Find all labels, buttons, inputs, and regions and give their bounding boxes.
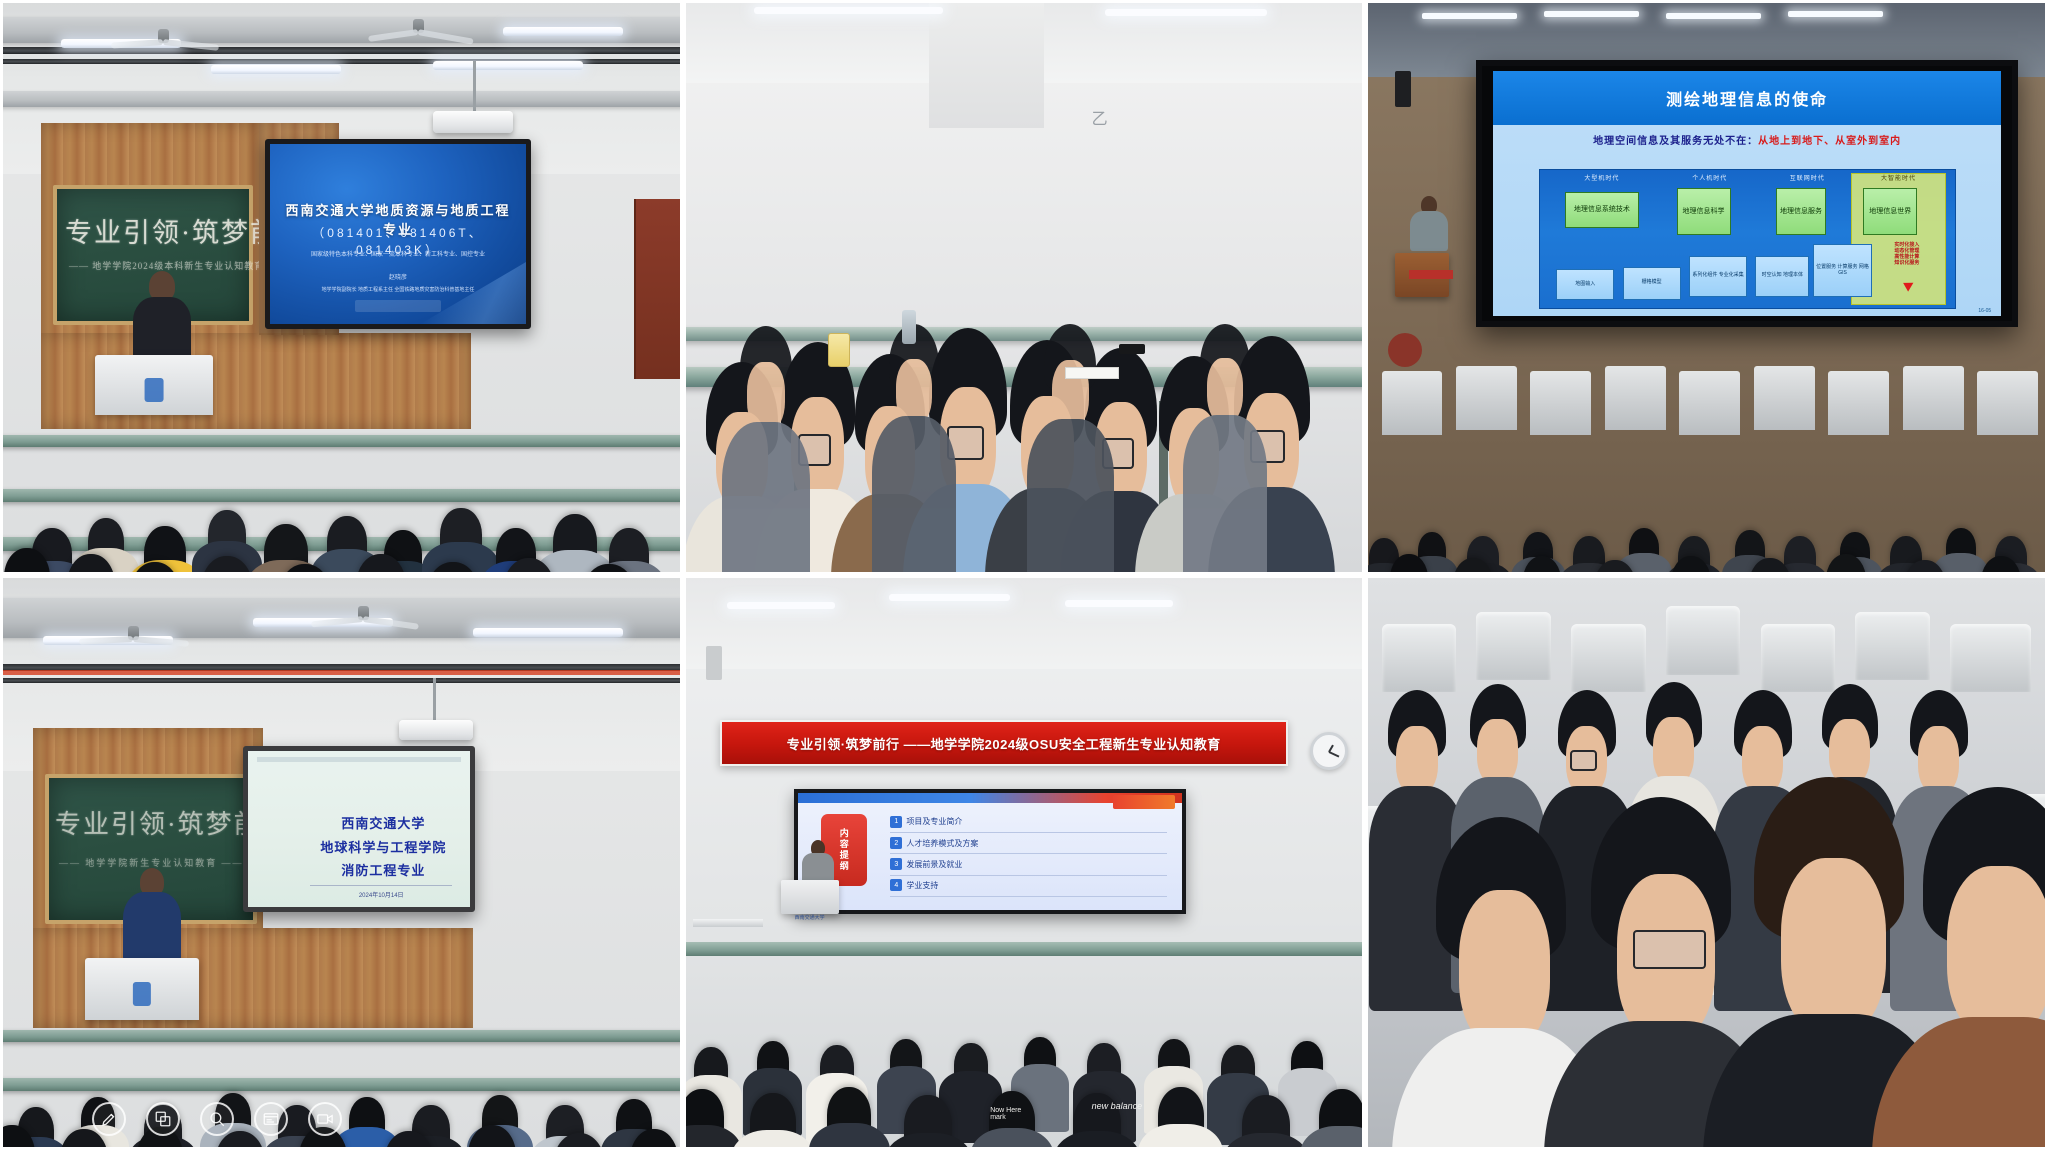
- outline-item: 1 项目及专业简介: [890, 816, 962, 828]
- audience-crowd: [1368, 420, 2045, 572]
- ceiling-duct-2: [3, 91, 680, 107]
- notebook: [1065, 367, 1119, 379]
- audience-head: [553, 514, 597, 562]
- audience-person-back: [889, 324, 939, 468]
- ceiling-column: [929, 3, 1044, 128]
- audience-crowd: [3, 372, 680, 572]
- audience-head: [349, 1097, 385, 1137]
- projector-rod: [433, 678, 436, 724]
- shirt-text-now-here: Now Here mark: [990, 1107, 1030, 1121]
- audience-person-front: [1754, 777, 1904, 1147]
- audience-person-front: [1591, 797, 1731, 1147]
- outline-text: 人才培养模式及方案: [906, 838, 978, 849]
- presenter: [1409, 196, 1449, 250]
- theatre-seating: [1368, 327, 2045, 572]
- audience-head: [1784, 536, 1816, 572]
- ceiling-beam-1: [3, 47, 680, 54]
- audience-head: [750, 1093, 796, 1143]
- stage-box: 地理信息系统技术: [1565, 192, 1640, 228]
- outline-rule: [890, 896, 1167, 897]
- outline-rule: [890, 875, 1167, 876]
- ceiling: [686, 578, 1362, 669]
- detail-box: 位置服务 计算服务 网格GIS: [1813, 244, 1871, 296]
- slide-speaker: 赵晓彦: [285, 272, 510, 281]
- highlight-list: 实时化接入动态化管理高性能计算知识化服务: [1867, 242, 1946, 267]
- presenter: [801, 840, 835, 886]
- crop-frame-icon[interactable]: [146, 1102, 180, 1136]
- audience-head: [954, 1043, 988, 1081]
- lectern-label: 西南交通大学: [781, 914, 839, 921]
- ceiling-light-4: [503, 27, 623, 36]
- projection-screen: 西南交通大学地质资源与地质工程专业 （081401、081406T、081403…: [265, 139, 531, 329]
- slide-subtitle-red: 从地上到地下、从室外到室内: [1758, 136, 1901, 147]
- audience-person-front: [1436, 817, 1566, 1147]
- detail-box: 栅格模型: [1623, 267, 1681, 300]
- detail-box: 地图输入: [1556, 269, 1614, 299]
- ceiling-light-2: [211, 65, 341, 74]
- slide-date: 2024年10月14日: [310, 890, 452, 899]
- stage-box: 地理信息世界: [1863, 188, 1917, 235]
- speaker-presenter: [121, 868, 183, 964]
- ceiling-light: [1065, 600, 1173, 607]
- slide-toolbar-strip: [257, 757, 461, 762]
- audience-head: [327, 516, 367, 560]
- projection-screen: 西南交通大学 地球科学与工程学院 消防工程专业 2024年10月14日: [243, 746, 475, 912]
- audience-person-back: [1044, 324, 1096, 472]
- seat-back: [1855, 612, 1929, 680]
- outline-item: 3 发展前景及就业: [890, 858, 962, 870]
- pen-annotate-icon[interactable]: [92, 1102, 126, 1136]
- audience-person-front: [1923, 787, 2045, 1147]
- water-bottle: [902, 310, 916, 344]
- ceiling-light-strip: [1788, 11, 1883, 17]
- ceiling-light-strip: [1422, 13, 1517, 19]
- fire-pipe: [3, 670, 680, 675]
- slide-surface: 测绘地理信息的使命 地理空间信息及其服务无处不在：从地上到地下、从室外到室内 大…: [1493, 71, 2001, 316]
- banner-text: 专业引领·筑梦前行 ——地学学院2024级OSU安全工程新生专业认知教育: [787, 734, 1221, 753]
- audience-head: [1735, 530, 1765, 564]
- outline-number: 3: [890, 858, 902, 870]
- audience-head: [208, 510, 246, 552]
- audience-head: [1291, 1041, 1323, 1077]
- window-card-icon[interactable]: [254, 1102, 288, 1136]
- audience-person-back: [1200, 324, 1250, 466]
- slide-line-1: 西南交通大学: [306, 813, 461, 832]
- shirt-text-new-balance: new balance: [1092, 1101, 1143, 1111]
- floating-image-toolbar[interactable]: [92, 1102, 342, 1136]
- era-label: 大智能时代: [1851, 173, 1946, 182]
- ceiling-fan-1: [108, 29, 218, 55]
- ceiling-light-3: [433, 61, 583, 70]
- speaker-presenter: [131, 271, 193, 363]
- audience-head: [1158, 1039, 1190, 1075]
- audience-head: [757, 1041, 789, 1077]
- outline-number: 1: [890, 816, 902, 828]
- phone: [1119, 344, 1145, 354]
- slide-page-number: 16-05: [1978, 308, 1991, 314]
- side-table: [693, 919, 763, 927]
- ceiling-light-strip: [1666, 13, 1761, 19]
- stage-box: 地理信息科学: [1677, 188, 1731, 235]
- audience-person-back: [740, 326, 792, 476]
- era-label: 大型机时代: [1556, 173, 1647, 182]
- audience-head: [1629, 528, 1659, 562]
- theatre-audience-closeup-photo: 西安交通大学: [1368, 578, 2045, 1147]
- search-zoom-icon[interactable]: [200, 1102, 234, 1136]
- ceiling-light: [754, 7, 943, 14]
- audience-head: [890, 1039, 922, 1075]
- audience-head: [1946, 528, 1976, 562]
- detail-box: 时空认知 地理本体: [1755, 256, 1809, 297]
- audience-head: [88, 518, 124, 558]
- audience-head: [1158, 1087, 1204, 1137]
- outline-rule: [890, 832, 1167, 833]
- projector: [399, 720, 473, 740]
- slide-surface: 内容提纲 1 项目及专业简介 2 人才培养模式及方案 3 发展前景及就业: [798, 793, 1182, 910]
- slide-subtitle-black: 地理空间信息及其服务无处不在：: [1593, 136, 1758, 147]
- era-label: 互联网时代: [1768, 173, 1847, 182]
- audience-head: [1221, 1045, 1255, 1083]
- speaker-box: [1395, 71, 1411, 107]
- audience-head: [1319, 1089, 1362, 1139]
- audience-head: [1242, 1095, 1290, 1147]
- slide-corner-logo: [1113, 795, 1174, 809]
- projector-mount: [706, 646, 722, 680]
- seat-back: [1761, 624, 1835, 692]
- audience-head: [440, 508, 482, 554]
- ceiling-light: [1105, 9, 1267, 16]
- slide-title: 测绘地理信息的使命: [1666, 86, 1828, 110]
- audience-person-back: [1470, 684, 1526, 828]
- panel-top-right[interactable]: 测绘地理信息的使命 地理空间信息及其服务无处不在：从地上到地下、从室外到室内 大…: [1365, 0, 2048, 575]
- ceiling-beam-2: [3, 678, 680, 683]
- outline-item: 2 人才培养模式及方案: [890, 837, 978, 849]
- audience-head: [1087, 1043, 1121, 1081]
- ceiling-light-strip: [1544, 11, 1639, 17]
- photo-collage-grid: 专业引领·筑梦前行 —— 地学学院2024级本科新生专业认知教育 —— 西南交通…: [0, 0, 2048, 1150]
- ceiling-light: [473, 628, 623, 637]
- audience-head: [1418, 532, 1446, 564]
- stage-box: 地理信息服务: [1776, 188, 1826, 235]
- seat-back: [1382, 624, 1456, 692]
- slide-header: 测绘地理信息的使命: [1493, 71, 2001, 125]
- slide-line-2: 地球科学与工程学院: [297, 837, 470, 856]
- surveying-lecture-photo: 测绘地理信息的使命 地理空间信息及其服务无处不在：从地上到地下、从室外到室内 大…: [1368, 3, 2045, 572]
- glasses-icon: [1633, 930, 1706, 969]
- slide-line-3: 消防工程专业: [306, 860, 461, 879]
- outline-text: 项目及专业简介: [906, 816, 962, 827]
- seat-back: [1476, 612, 1550, 680]
- panel-bottom-center[interactable]: 专业引领·筑梦前行 ——地学学院2024级OSU安全工程新生专业认知教育 内容提…: [683, 575, 1365, 1150]
- slide-divider: [310, 885, 452, 886]
- slide-tags: 国家级特色本科专业、国家一流本科专业、新工科专业、国控专业: [285, 249, 510, 258]
- outline-number: 4: [890, 879, 902, 891]
- projector-rod: [473, 61, 476, 113]
- panel-bottom-left[interactable]: 专业引领·筑梦前行 —— 地学学院新生专业认知教育 —— 西南交通大学 地球科学…: [0, 575, 683, 1150]
- ceiling-fan-2: [303, 606, 423, 632]
- era-label: 个人机时代: [1664, 173, 1755, 182]
- drink-cup: [828, 333, 850, 367]
- wall-clock-icon: [1310, 732, 1348, 770]
- detail-box: 系列化组件 专业化采集: [1689, 256, 1747, 297]
- video-camera-icon[interactable]: [308, 1102, 342, 1136]
- panel-bottom-right[interactable]: 西安交通大学: [1365, 575, 2048, 1150]
- fire-safety-lecture-photo: 专业引领·筑梦前行 —— 地学学院新生专业认知教育 —— 西南交通大学 地球科学…: [3, 578, 680, 1147]
- ceiling-fan-1: [73, 626, 193, 652]
- ceiling-light: [727, 602, 835, 609]
- slide-speaker-title: 地学学院副院长 地质工程系主任 全国铁路地质灾害防治科普基地主任: [285, 286, 510, 293]
- presentation-display: 测绘地理信息的使命 地理空间信息及其服务无处不在：从地上到地下、从室外到室内 大…: [1476, 60, 2018, 327]
- audience-head: [827, 1087, 871, 1135]
- seat-back: [1571, 624, 1645, 692]
- wall-sign: 乙: [1092, 105, 1118, 139]
- ceiling-fan-2: [363, 19, 473, 45]
- audience-head: [694, 1047, 728, 1085]
- presentation-display: 内容提纲 1 项目及专业简介 2 人才培养模式及方案 3 发展前景及就业: [794, 789, 1186, 914]
- audience-closeup-photo: 乙: [686, 3, 1362, 572]
- classroom-door: [634, 199, 680, 379]
- slide-subtitle: 地理空间信息及其服务无处不在：从地上到地下、从室外到室内: [1508, 132, 1986, 147]
- projector: [433, 111, 513, 133]
- event-banner: 专业引领·筑梦前行 ——地学学院2024级OSU安全工程新生专业认知教育: [720, 720, 1288, 766]
- outline-text: 发展前景及就业: [906, 859, 962, 870]
- osu-safety-session-photo: 专业引领·筑梦前行 ——地学学院2024级OSU安全工程新生专业认知教育 内容提…: [686, 578, 1362, 1147]
- seat-back: [1666, 606, 1740, 674]
- geology-lecture-photo: 专业引领·筑梦前行 —— 地学学院2024级本科新生专业认知教育 —— 西南交通…: [3, 3, 680, 572]
- outline-number: 2: [890, 837, 902, 849]
- panel-top-center[interactable]: 乙: [683, 0, 1365, 575]
- grid-seam-horizontal: [0, 572, 2048, 578]
- audience-head: [820, 1045, 854, 1083]
- outline-rule: [890, 853, 1167, 854]
- podium-banner: [1409, 270, 1453, 279]
- glasses-icon: [1570, 750, 1597, 771]
- lectern: [781, 880, 839, 914]
- evolution-diagram: 大型机时代 个人机时代 互联网时代 大智能时代 地理信息系统技术 地理信息科学 …: [1539, 169, 1956, 309]
- panel-top-left[interactable]: 专业引领·筑梦前行 —— 地学学院2024级本科新生专业认知教育 —— 西南交通…: [0, 0, 683, 575]
- outline-item: 4 学业支持: [890, 879, 938, 891]
- seat-back: [1950, 624, 2031, 692]
- audience-head: [1024, 1037, 1056, 1073]
- slide-university-logo: [355, 300, 441, 312]
- outline-text: 学业支持: [906, 880, 938, 891]
- ceiling-light: [889, 594, 1011, 601]
